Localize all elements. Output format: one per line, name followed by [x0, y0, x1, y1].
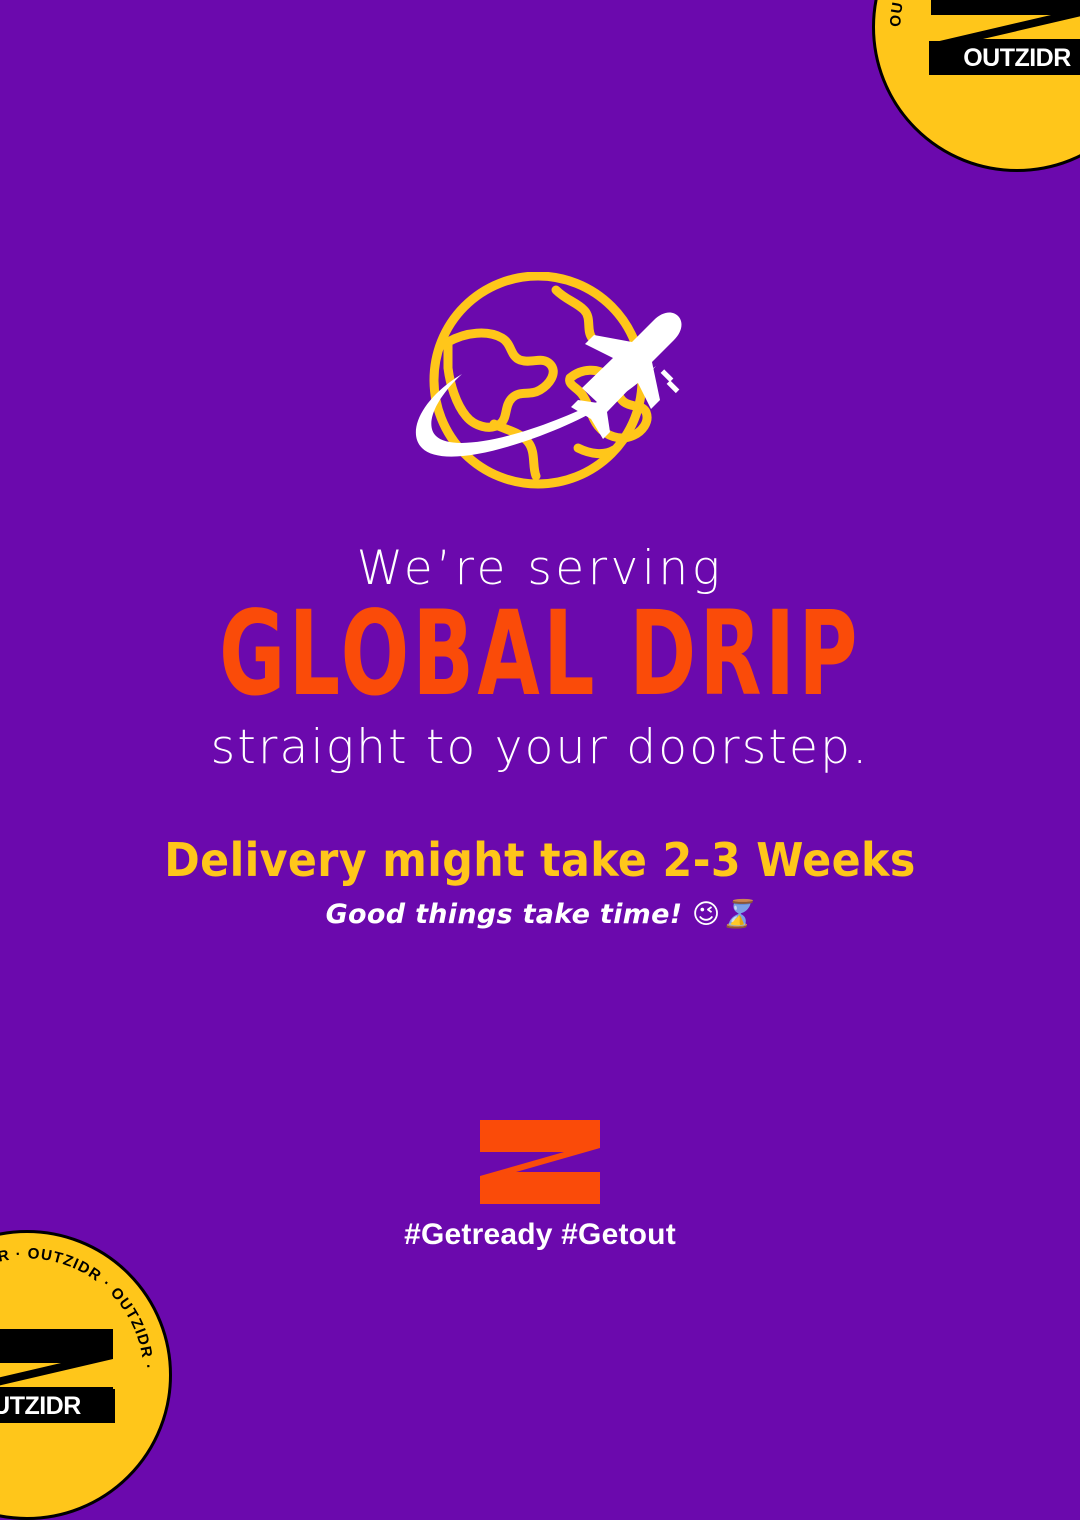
globe-with-airplane-icon: [370, 272, 710, 504]
delivery-notice: Delivery might take 2-3 Weeks Good thing…: [0, 834, 1080, 931]
badge-wordmark: OUTZIDR: [0, 1389, 115, 1423]
badge-wordmark: OUTZIDR: [929, 41, 1080, 75]
badge-core: OUTZIDR: [929, 0, 1080, 75]
headline-block: We’re serving GLOBAL DRIP straight to yo…: [0, 544, 1080, 772]
outzidr-z-logo: [478, 1118, 602, 1206]
badge-wordmark-text: OUTZIDR: [0, 1394, 81, 1419]
footer-block: #Getready #Getout: [0, 1118, 1080, 1252]
headline-line-2: GLOBAL DRIP: [86, 587, 993, 723]
delivery-estimate: Delivery might take 2-3 Weeks: [38, 834, 1042, 887]
badge-wordmark-text: OUTZIDR: [963, 46, 1071, 71]
outzidr-sticker-bottom-left: OUTZIDR · OUTZIDR · OUTZIDR · OUTZIDR · …: [0, 1230, 172, 1520]
outzidr-sticker-top-right: OUTZIDR · OUTZIDR · OUTZIDR · OUTZIDR · …: [872, 0, 1080, 172]
badge-core: OUTZIDR: [0, 1327, 115, 1423]
delivery-subtext: Good things take time! 😉⌛: [0, 899, 1080, 931]
poster-canvas: We’re serving GLOBAL DRIP straight to yo…: [0, 0, 1080, 1440]
headline-line-3: straight to your doorstep.: [0, 723, 1080, 772]
